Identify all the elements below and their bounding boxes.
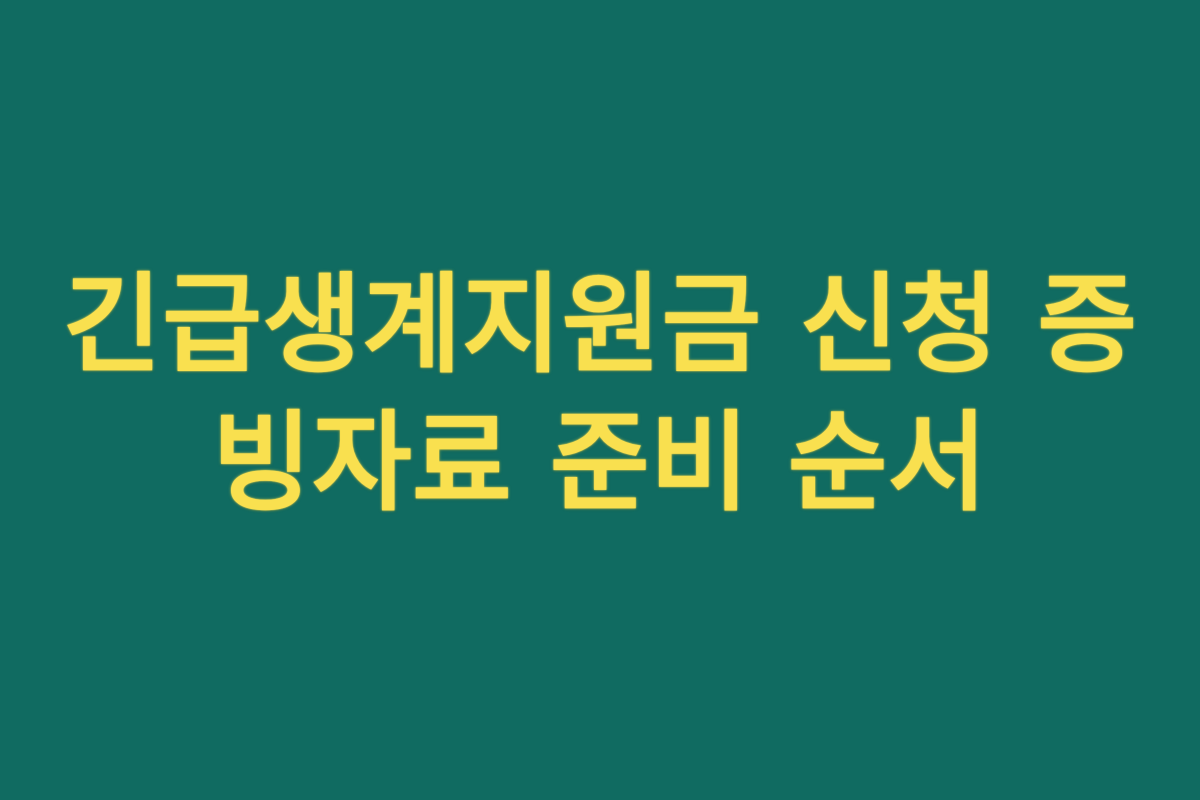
banner-canvas: 긴급생계지원금 신청 증 빙자료 준비 순서 (0, 0, 1200, 800)
title-block: 긴급생계지원금 신청 증 빙자료 준비 순서 (0, 257, 1200, 533)
title-line-2: 빙자료 준비 순서 (40, 395, 1160, 533)
title-line-1: 긴급생계지원금 신청 증 (40, 257, 1160, 395)
